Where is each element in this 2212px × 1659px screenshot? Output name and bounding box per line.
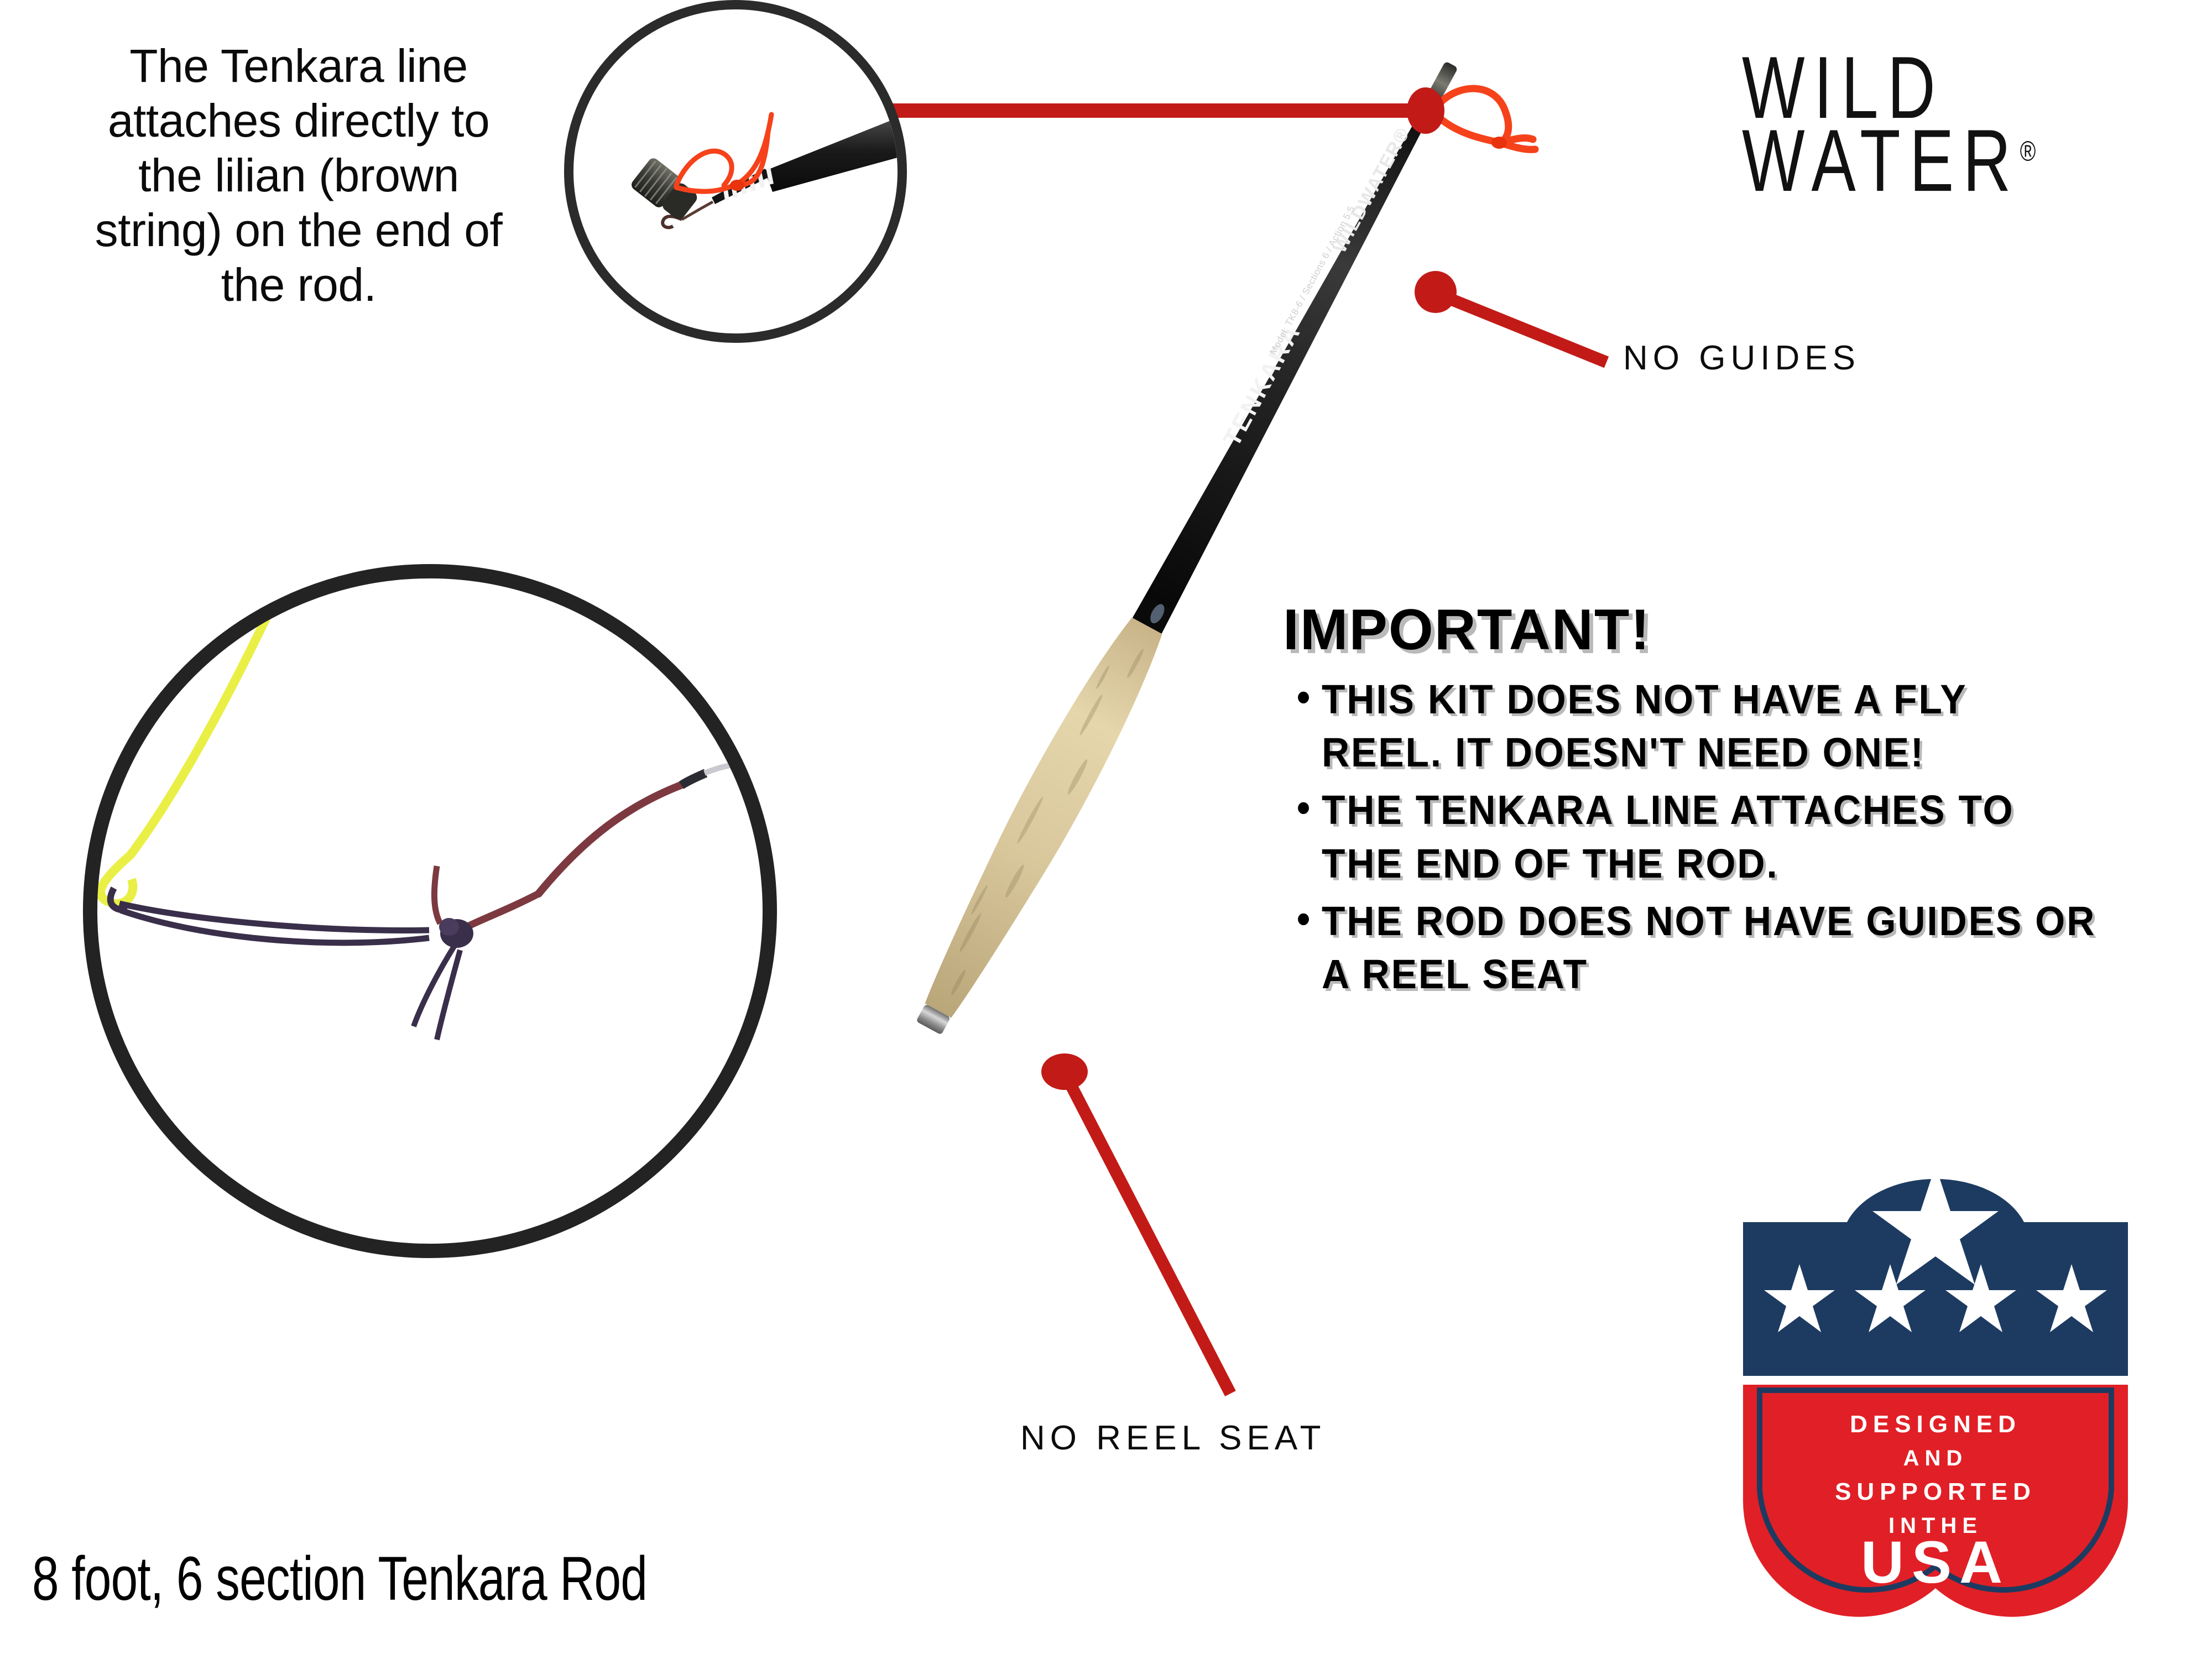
important-heading: IMPORTANT! <box>1283 597 2146 663</box>
logo-line-2-text: WATER <box>1742 112 2020 210</box>
product-caption: 8 foot, 6 section Tenkara Rod <box>32 1543 647 1614</box>
registered-trademark-icon: ® <box>2020 136 2036 168</box>
wild-water-logo: WILD WATER® <box>1742 39 2151 185</box>
badge-line-2: AND <box>1903 1446 1968 1470</box>
badge-line-3: SUPPORTED <box>1835 1478 2036 1505</box>
dot-rod-tip <box>1407 87 1444 134</box>
logo-line-2: WATER® <box>1742 112 2159 210</box>
badge-line-1: DESIGNED <box>1850 1411 2021 1438</box>
intro-paragraph: The Tenkara line attaches directly to th… <box>72 39 525 313</box>
infographic-canvas: TENKARA WILDWATER® Model: TK8-6 / Sectio… <box>0 0 2212 1659</box>
important-bullet-list: THIS KIT DOES NOT HAVE A FLY REEL. IT DO… <box>1283 673 2146 1001</box>
rod-tip-silver <box>705 764 738 773</box>
lilian-tag <box>434 866 440 924</box>
rod-tip-dark <box>681 773 706 785</box>
badge-line-5: USA <box>1861 1528 2010 1595</box>
fly-line-loop <box>101 855 133 904</box>
inset-circle-rod-tip <box>564 0 907 343</box>
leader-tag-2 <box>437 950 460 1040</box>
lilian-to-knot <box>465 894 539 928</box>
dot-no-reel-seat <box>1041 1053 1088 1090</box>
inset-tip-blank <box>765 118 898 192</box>
lilian-maroon <box>539 784 684 894</box>
inset-orange-knot <box>730 180 744 191</box>
list-item: THE TENKARA LINE ATTACHES TO THE END OF … <box>1322 784 2096 890</box>
list-item: THIS KIT DOES NOT HAVE A FLY REEL. IT DO… <box>1322 673 2096 779</box>
knot-highlight <box>439 918 459 936</box>
list-item: THE ROD DOES NOT HAVE GUIDES OR A REEL S… <box>1322 895 2096 1001</box>
inset-circle-line-knot <box>83 564 777 1258</box>
dot-no-guides <box>1415 271 1457 313</box>
important-notice-block: IMPORTANT! THIS KIT DOES NOT HAVE A FLY … <box>1283 597 2146 1005</box>
callout-label-no-reel-seat: NO REEL SEAT <box>1020 1418 1326 1458</box>
callout-label-no-guides: NO GUIDES <box>1623 338 1860 378</box>
designed-in-usa-badge: DESIGNED AND SUPPORTED INTHE USA <box>1731 1156 2140 1620</box>
